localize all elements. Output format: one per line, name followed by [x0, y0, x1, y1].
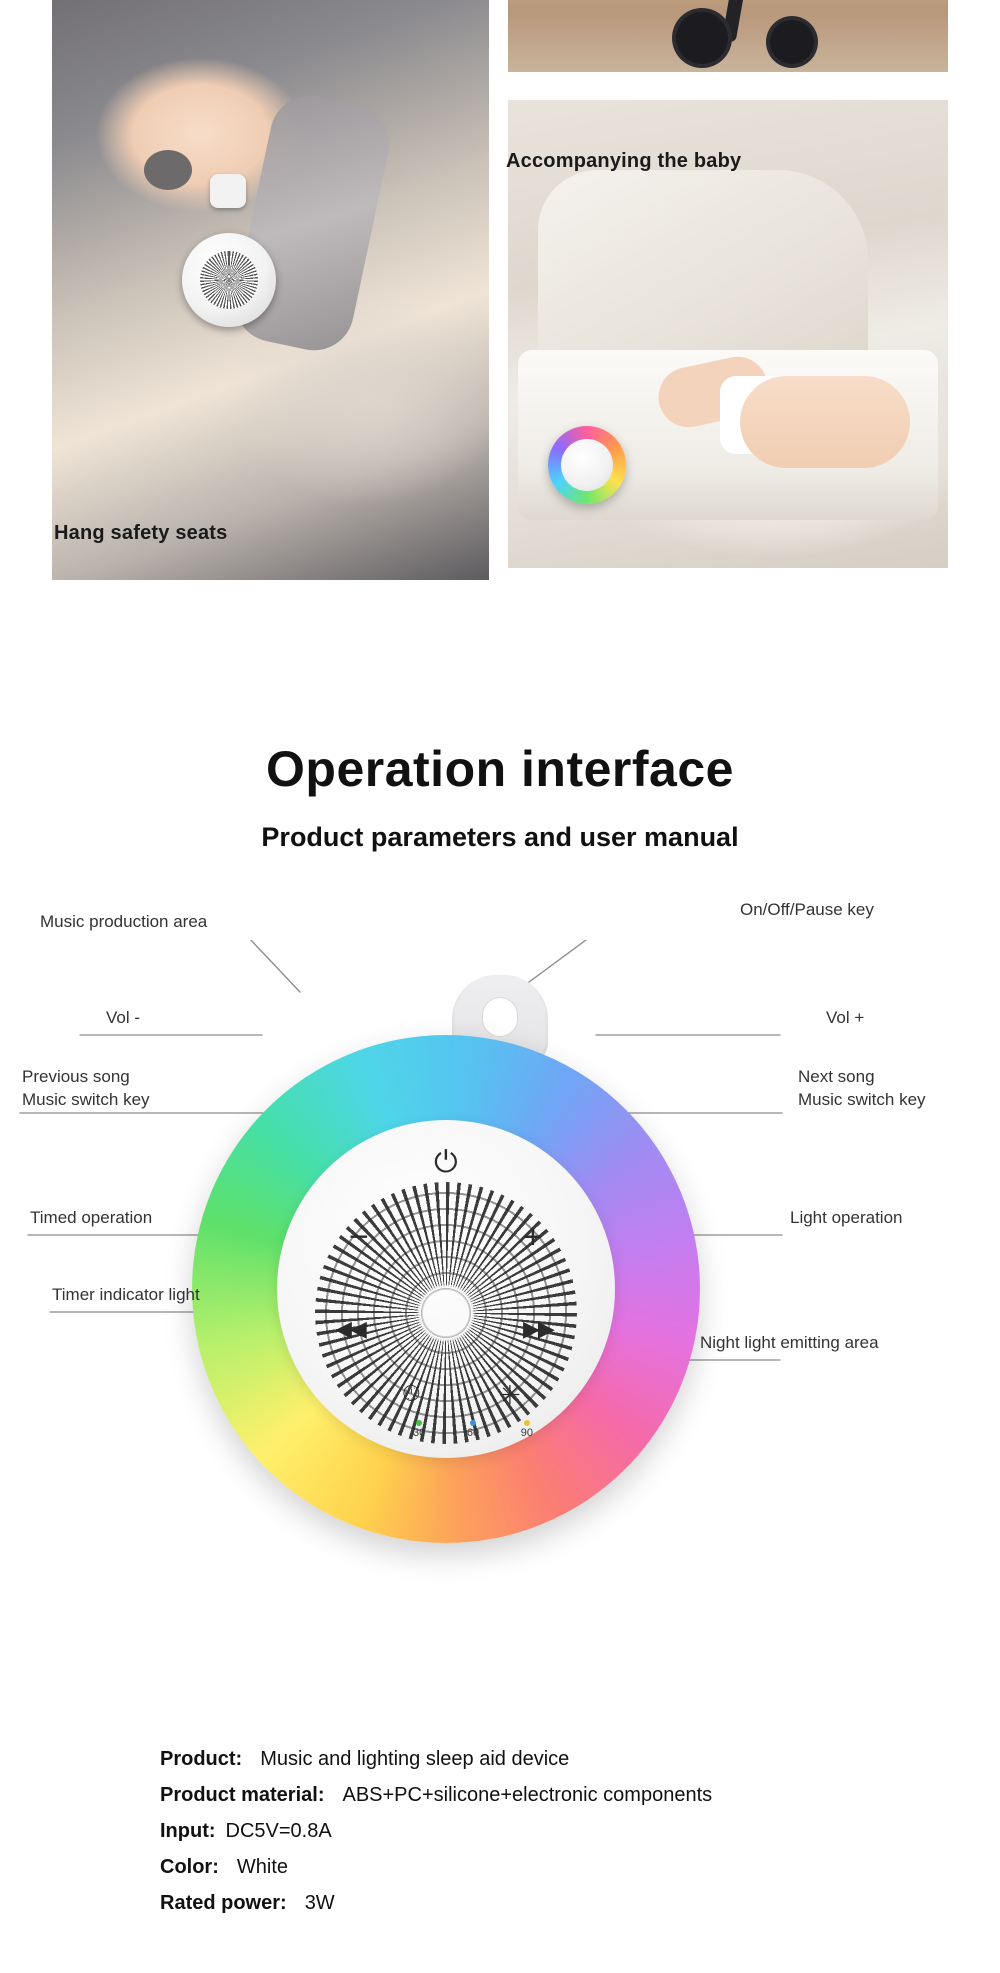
spec-key-input: Input:	[160, 1820, 216, 1843]
spec-row-product-material: Product material: ABS+PC+silicone+electr…	[160, 1784, 920, 1807]
spec-row-color: Color: White	[160, 1856, 920, 1879]
timer-led-dot-30	[416, 1420, 422, 1426]
stroller-wheel-front	[676, 12, 728, 64]
photo-collage: Hang safety seats Accompanying the baby	[0, 0, 1000, 590]
callout-previous-song-line1: Previous song	[22, 1066, 150, 1089]
baby-figure	[740, 376, 910, 468]
spec-row-product: Product: Music and lighting sleep aid de…	[160, 1748, 920, 1771]
page-title: Operation interface	[0, 740, 1000, 798]
spec-key-color: Color:	[160, 1856, 219, 1879]
spec-value-color: White	[237, 1856, 288, 1879]
callout-next-song: Next song Music switch key	[798, 1066, 926, 1112]
photo-baby-in-car-seat	[52, 0, 489, 580]
callout-vol-plus: Vol +	[826, 1008, 864, 1028]
stroller-wheel-rear	[770, 20, 814, 64]
pacifier-clip-strap	[144, 150, 192, 190]
timer-led-label-60: 60	[467, 1427, 479, 1439]
timer-led-label-30: 30	[413, 1427, 425, 1439]
callout-music-production-area: Music production area	[40, 912, 207, 932]
pacifier-clip	[210, 174, 246, 208]
caption-accompanying-the-baby: Accompanying the baby	[506, 150, 741, 173]
power-button-icon[interactable]: ⏻	[434, 1148, 458, 1178]
callout-next-song-line1: Next song	[798, 1066, 926, 1089]
callout-timer-indicator-light: Timer indicator light	[52, 1285, 200, 1305]
volume-up-button-icon[interactable]: +	[523, 1220, 543, 1254]
timer-button-icon[interactable]: ⏱	[402, 1382, 421, 1406]
device-control-face: ⏻ − + ◀◀ ▶▶ ⏱ ✳ 30 60 90	[277, 1120, 615, 1458]
sleep-aid-device-on-mat	[548, 426, 626, 504]
spec-key-product-material: Product material:	[160, 1784, 324, 1807]
timer-led-dot-90	[524, 1420, 530, 1426]
callout-previous-song: Previous song Music switch key	[22, 1066, 150, 1112]
product-specifications: Product: Music and lighting sleep aid de…	[160, 1748, 920, 1928]
timer-indicator-leds: 30 60 90	[413, 1420, 533, 1439]
sleep-aid-device-hanging	[182, 233, 276, 327]
callout-vol-minus: Vol -	[106, 1008, 140, 1028]
timer-led-90: 90	[521, 1420, 533, 1439]
spec-key-rated-power: Rated power:	[160, 1892, 287, 1915]
spec-value-rated-power: 3W	[305, 1892, 335, 1915]
timer-led-label-90: 90	[521, 1427, 533, 1439]
timer-led-30: 30	[413, 1420, 425, 1439]
callout-light-operation: Light operation	[790, 1208, 902, 1228]
callout-night-light-emitting-area: Night light emitting area	[700, 1333, 879, 1353]
spec-row-rated-power: Rated power: 3W	[160, 1892, 920, 1915]
callout-on-off-pause-key: On/Off/Pause key	[740, 900, 874, 920]
operation-interface-diagram: ⏻ − + ◀◀ ▶▶ ⏱ ✳ 30 60 90	[0, 940, 1000, 1680]
night-light-ring: ⏻ − + ◀◀ ▶▶ ⏱ ✳ 30 60 90	[192, 1035, 700, 1543]
callout-timed-operation: Timed operation	[30, 1208, 152, 1228]
spec-value-product-material: ABS+PC+silicone+electronic components	[342, 1784, 712, 1807]
callout-previous-song-line2: Music switch key	[22, 1089, 150, 1112]
photo-stroller	[508, 0, 948, 72]
previous-track-button-icon[interactable]: ◀◀	[335, 1318, 365, 1340]
timer-led-dot-60	[470, 1420, 476, 1426]
next-track-button-icon[interactable]: ▶▶	[523, 1318, 553, 1340]
volume-down-button-icon[interactable]: −	[349, 1220, 369, 1254]
light-button-icon[interactable]: ✳	[499, 1382, 521, 1408]
spec-value-input: DC5V=0.8A	[226, 1820, 332, 1843]
spec-key-product: Product:	[160, 1748, 242, 1771]
page-subtitle: Product parameters and user manual	[0, 822, 1000, 853]
spec-row-input: Input: DC5V=0.8A	[160, 1820, 920, 1843]
spec-value-product: Music and lighting sleep aid device	[260, 1748, 569, 1771]
callout-next-song-line2: Music switch key	[798, 1089, 926, 1112]
caption-hang-safety-seats: Hang safety seats	[54, 522, 227, 545]
timer-led-60: 60	[467, 1420, 479, 1439]
